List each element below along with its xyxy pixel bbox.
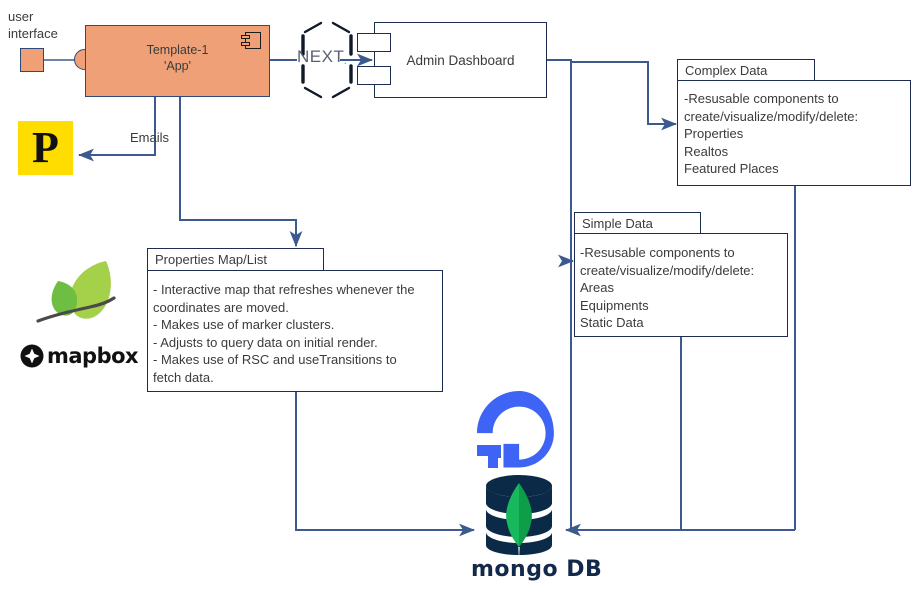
component-title-line2: 'App' (86, 58, 269, 74)
admin-dashboard-port-top[interactable] (357, 33, 391, 52)
properties-map-list-body: - Interactive map that refreshes wheneve… (153, 281, 441, 386)
properties-map-list-title: Properties Map/List (155, 252, 267, 267)
properties-map-list-title-tab[interactable]: Properties Map/List (147, 248, 324, 271)
emails-label: Emails (130, 129, 169, 146)
nextjs-logo-dot: . (344, 56, 347, 66)
mapbox-logo-text: mapbox (47, 344, 138, 368)
user-interface-port[interactable] (20, 48, 44, 72)
digitalocean-logo (474, 391, 560, 469)
template-app-component[interactable]: Template-1 'App' (85, 25, 270, 97)
postmark-logo-letter: P (32, 126, 59, 170)
postmark-logo: P (18, 121, 73, 175)
complex-data-body: -Resusable components to create/visualiz… (684, 90, 908, 178)
mapbox-icon (20, 344, 44, 368)
admin-dashboard-box[interactable]: Admin Dashboard (374, 22, 547, 98)
complex-data-title-tab[interactable]: Complex Data (677, 59, 815, 81)
simple-data-title-tab[interactable]: Simple Data (574, 212, 701, 234)
admin-dashboard-label: Admin Dashboard (406, 53, 514, 68)
simple-data-body: -Resusable components to create/visualiz… (580, 244, 786, 332)
complex-data-title: Complex Data (685, 63, 767, 78)
nextjs-logo-text: NEXT (297, 47, 344, 67)
admin-dashboard-port-bottom[interactable] (357, 66, 391, 85)
component-title-line1: Template-1 (86, 42, 269, 58)
mongodb-logo-text: mongo DB (471, 557, 602, 582)
mongodb-logo (476, 473, 562, 555)
leaf-logo (28, 255, 120, 335)
user-interface-label: user interface (8, 8, 58, 42)
component-title: Template-1 'App' (86, 42, 269, 74)
simple-data-title: Simple Data (582, 216, 653, 231)
